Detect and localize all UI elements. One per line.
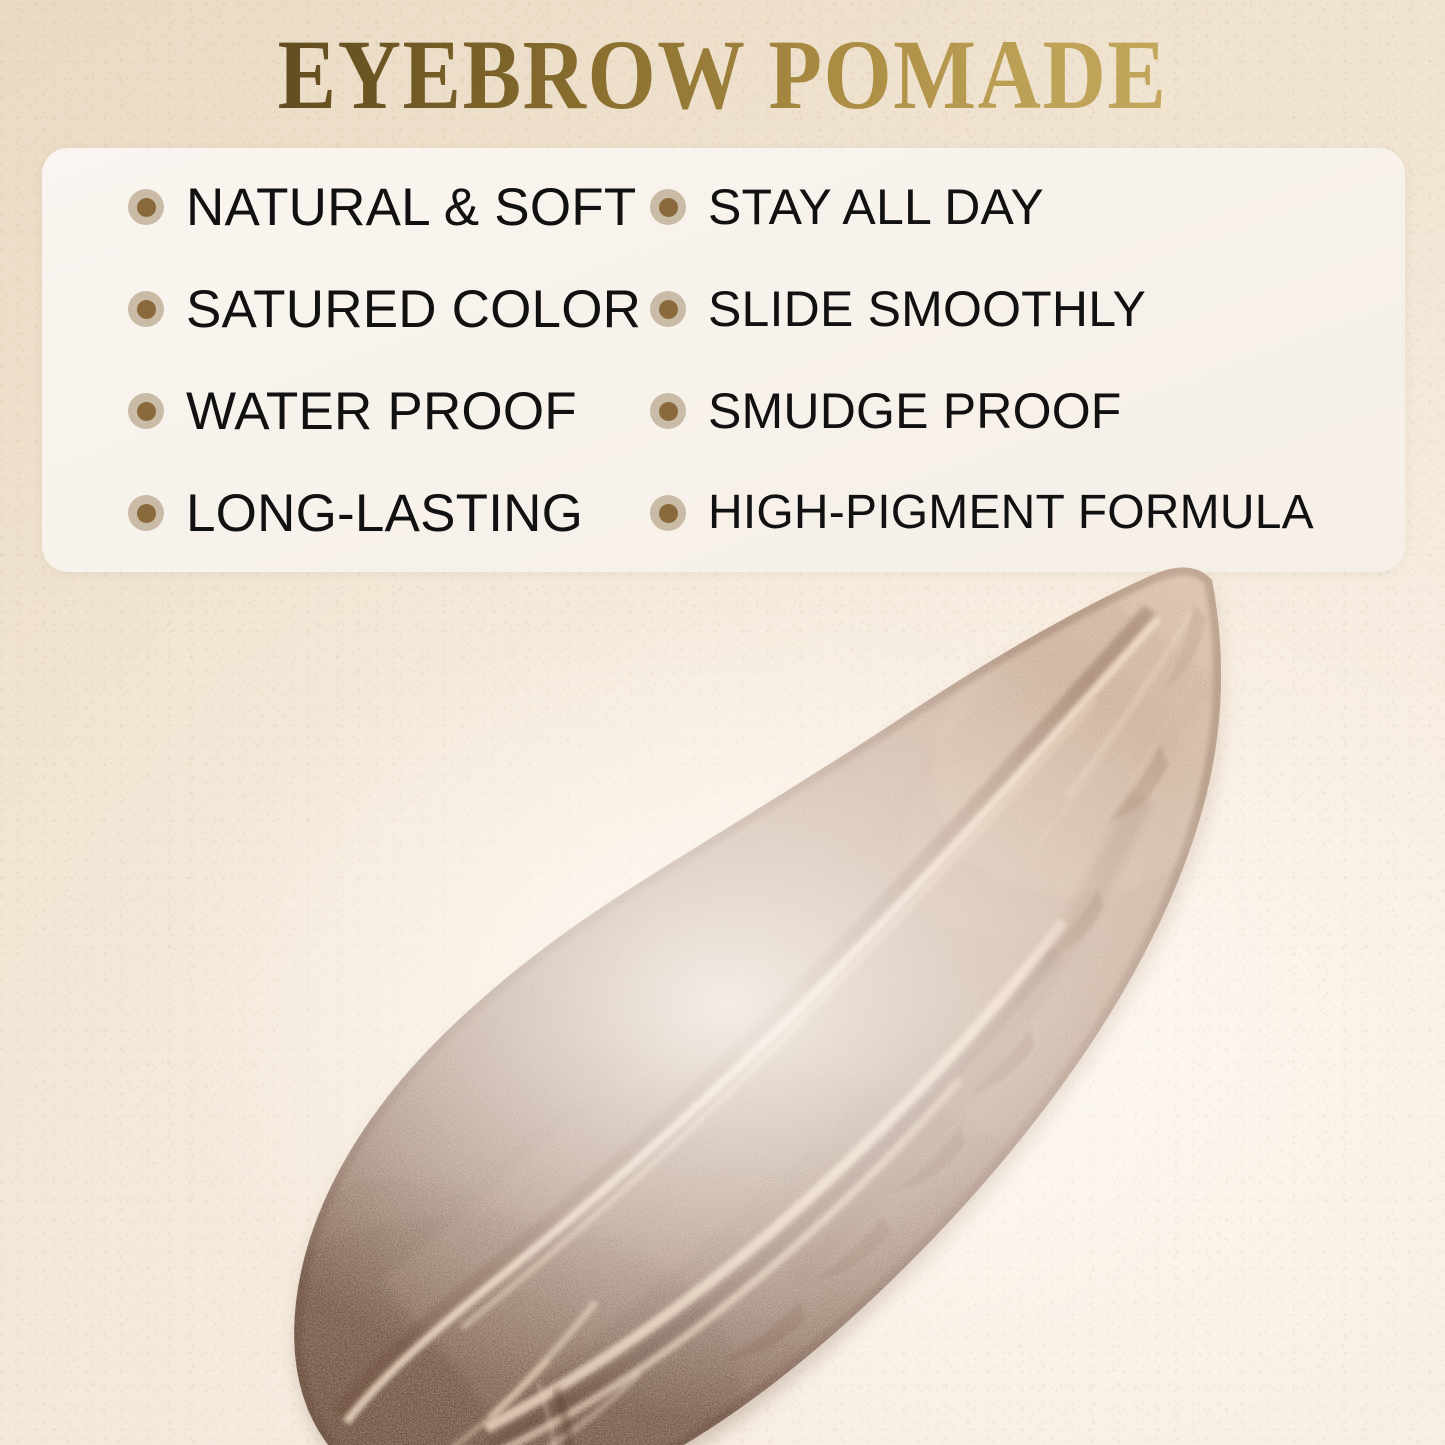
bullet-dot-icon: [128, 189, 164, 225]
feature-label: SLIDE SMOOTHLY: [708, 284, 1146, 334]
feature-label: STAY ALL DAY: [708, 182, 1044, 232]
feature-label: SMUDGE PROOF: [708, 386, 1122, 436]
bullet-dot-icon: [650, 495, 686, 531]
bullet-dot-icon: [650, 189, 686, 225]
feature-label: NATURAL & SOFT: [186, 181, 636, 234]
feature-item-water-proof: WATER PROOF: [42, 360, 642, 462]
page-title: EYEBROW POMADE: [0, 22, 1445, 127]
bullet-dot-icon: [128, 291, 164, 327]
feature-item-smudge-proof: SMUDGE PROOF: [642, 360, 1405, 462]
pomade-swatch-illustration: [0, 560, 1445, 1445]
feature-item-long-lasting: LONG-LASTING: [42, 462, 642, 564]
feature-label: HIGH-PIGMENT FORMULA: [708, 489, 1314, 537]
bullet-dot-icon: [650, 291, 686, 327]
feature-label: WATER PROOF: [186, 385, 577, 438]
feature-item-natural-and-soft: NATURAL & SOFT: [42, 156, 642, 258]
feature-item-slide-smoothly: SLIDE SMOOTHLY: [642, 258, 1405, 360]
bullet-dot-icon: [128, 495, 164, 531]
bullet-dot-icon: [650, 393, 686, 429]
feature-item-high-pigment-formula: HIGH-PIGMENT FORMULA: [642, 462, 1405, 564]
feature-label: LONG-LASTING: [186, 487, 583, 540]
bullet-dot-icon: [128, 393, 164, 429]
feature-item-satured-color: SATURED COLOR: [42, 258, 642, 360]
product-swatch-area: [0, 560, 1445, 1445]
feature-item-stay-all-day: STAY ALL DAY: [642, 156, 1405, 258]
feature-list-card: NATURAL & SOFT STAY ALL DAY SATURED COLO…: [42, 148, 1405, 572]
product-feature-graphic: EYEBROW POMADE NATURAL & SOFT STAY ALL D…: [0, 0, 1445, 1445]
feature-label: SATURED COLOR: [186, 283, 641, 336]
